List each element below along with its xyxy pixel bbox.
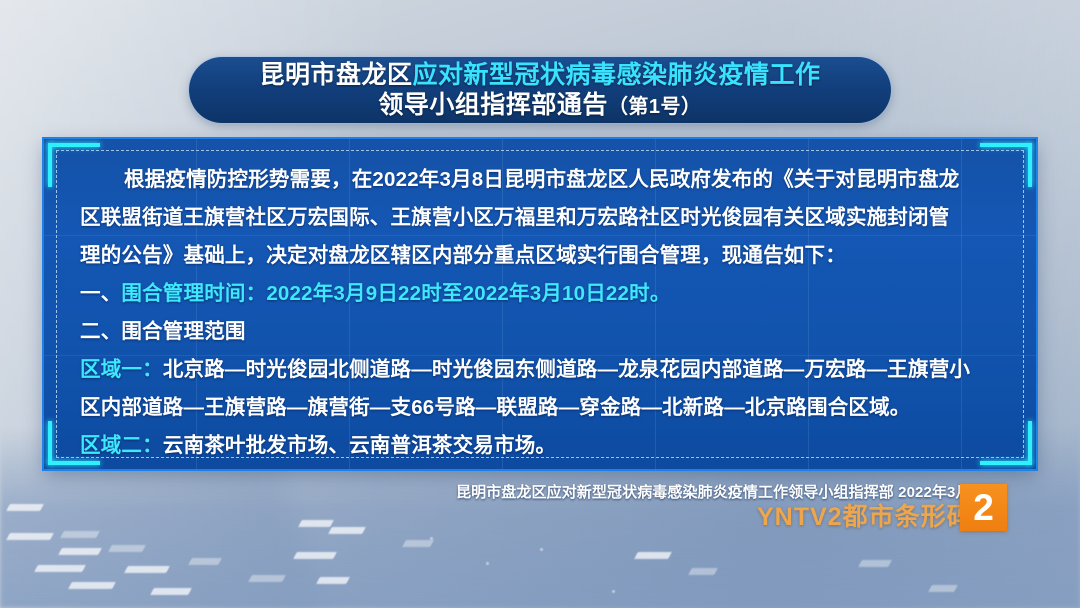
background-dash xyxy=(6,533,54,540)
item-1: 一、围合管理时间：2022年3月9日22时至2022年3月10日22时。 xyxy=(80,275,1006,313)
background-dash xyxy=(634,552,672,559)
title-line-2: 领导小组指挥部通告（第1号） xyxy=(378,90,701,121)
background-dash xyxy=(68,582,116,589)
area-1-text-a: 北京路—时光俊园北侧道路—时光俊园东侧道路—龙泉花园内部道路—万宏路—王旗营小 xyxy=(163,358,970,381)
background-speck xyxy=(486,562,489,565)
background-dash xyxy=(328,527,366,534)
area-1-line-2: 区内部道路—王旗营路—旗营街—支66号路—联盟路—穿金路—北新路—北京路围合区域… xyxy=(80,389,1006,427)
background-dash xyxy=(293,552,337,559)
background-speck xyxy=(430,537,433,540)
background-dash xyxy=(316,577,350,584)
item-2-label: 围合管理范围 xyxy=(121,320,245,343)
background-dash xyxy=(34,565,86,572)
item-1-number: 一、 xyxy=(80,282,121,305)
background-dash xyxy=(60,531,100,538)
area-2-text: 云南茶叶批发市场、云南普洱茶交易市场。 xyxy=(163,434,556,457)
background-dash xyxy=(108,545,146,552)
item-1-value: 2022年3月9日22时至2022年3月10日22时 xyxy=(266,282,650,305)
background-dash xyxy=(150,588,192,595)
item-1-period: 。 xyxy=(650,282,671,305)
notice-body: 根据疫情防控形势需要，在2022年3月8日昆明市盘龙区人民政府发布的《关于对昆明… xyxy=(80,161,1006,465)
paragraph-1-line-3: 理的公告》基础上，决定对盘龙区辖区内部分重点区域实行围合管理，现通告如下： xyxy=(80,237,1006,275)
item-2: 二、围合管理范围 xyxy=(80,313,1006,351)
title-line-1: 昆明市盘龙区应对新型冠状病毒感染肺炎疫情工作 xyxy=(259,60,820,91)
channel-logo: 2 xyxy=(960,484,1007,531)
background-speck xyxy=(540,548,543,551)
paragraph-1-line-1: 根据疫情防控形势需要，在2022年3月8日昆明市盘龙区人民政府发布的《关于对昆明… xyxy=(80,161,1006,199)
notice-panel: 根据疫情防控形势需要，在2022年3月8日昆明市盘龙区人民政府发布的《关于对昆明… xyxy=(44,139,1036,469)
title-issuer-text: 领导小组指挥部通告 xyxy=(378,91,608,119)
title-region-text: 昆明市盘龙区 xyxy=(259,61,412,89)
background-dash xyxy=(6,504,44,511)
background-speck xyxy=(612,590,615,593)
item-2-number: 二、 xyxy=(80,320,121,343)
item-1-label: 围合管理时间： xyxy=(121,282,266,305)
background-dash xyxy=(928,585,958,592)
background-dash xyxy=(188,558,222,565)
channel-logo-number: 2 xyxy=(973,489,994,526)
background-dash xyxy=(248,575,286,582)
title-topic-text: 应对新型冠状病毒感染肺炎疫情工作 xyxy=(413,61,821,89)
channel-watermark-text: YNTV2都市条形码 xyxy=(757,497,973,533)
background-dash xyxy=(298,520,334,527)
area-2: 区域二：云南茶叶批发市场、云南普洱茶交易市场。 xyxy=(80,427,1006,465)
area-2-label: 区域二： xyxy=(80,434,163,457)
area-1-line-1: 区域一：北京路—时光俊园北侧道路—时光俊园东侧道路—龙泉花园内部道路—万宏路—王… xyxy=(80,351,1006,389)
paragraph-1-line-2: 区联盟街道王旗营社区万宏国际、王旗营小区万福里和万宏路社区时光俊园有关区域实施封… xyxy=(80,199,1006,237)
background-dash xyxy=(402,540,434,547)
area-1-label: 区域一： xyxy=(80,358,163,381)
notice-title-banner: 昆明市盘龙区应对新型冠状病毒感染肺炎疫情工作 领导小组指挥部通告（第1号） xyxy=(189,57,891,123)
title-number-text: （第1号） xyxy=(608,96,702,118)
background-dash xyxy=(858,560,892,567)
background-dash xyxy=(688,568,718,575)
background-dash xyxy=(124,566,170,573)
background-dash xyxy=(58,548,102,555)
